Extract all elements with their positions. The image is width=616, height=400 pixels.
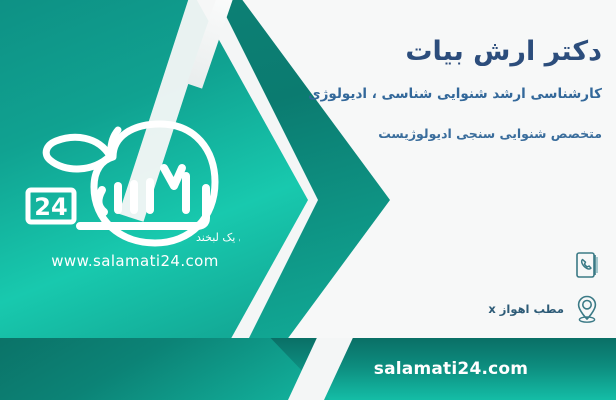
doctor-degree: کارشناسی ارشد شنوایی شناسی ، ادیولوژی <box>222 84 602 104</box>
footer-site-text: salamati24.com <box>374 359 528 379</box>
doctor-specialty: متخصص شنوایی سنجی ادیولوژیست <box>222 125 602 144</box>
contact-row-location[interactable]: مطب اهواز x <box>272 292 602 326</box>
salamati24-logo: 24 به راحتی یک لبخند www.salamati24.com <box>10 110 240 270</box>
footer-site-link[interactable]: salamati24.com <box>286 338 616 400</box>
business-card: 24 به راحتی یک لبخند www.salamati24.com … <box>0 0 616 400</box>
logo-url: www.salamati24.com <box>40 252 230 270</box>
contact-row-phone[interactable] <box>272 248 602 282</box>
phone-book-icon[interactable] <box>572 249 602 281</box>
doctor-info: دکتر ارش بیات کارشناسی ارشد شنوایی شناسی… <box>222 36 602 143</box>
page-title: دکتر ارش بیات <box>222 36 602 68</box>
contact-location-label: مطب اهواز x <box>488 302 564 316</box>
contact-list: مطب اهواز x <box>272 248 602 336</box>
location-pin-icon[interactable] <box>572 293 602 325</box>
logo-tagline: به راحتی یک لبخند <box>196 231 240 244</box>
logo-badge-number: 24 <box>34 193 67 221</box>
